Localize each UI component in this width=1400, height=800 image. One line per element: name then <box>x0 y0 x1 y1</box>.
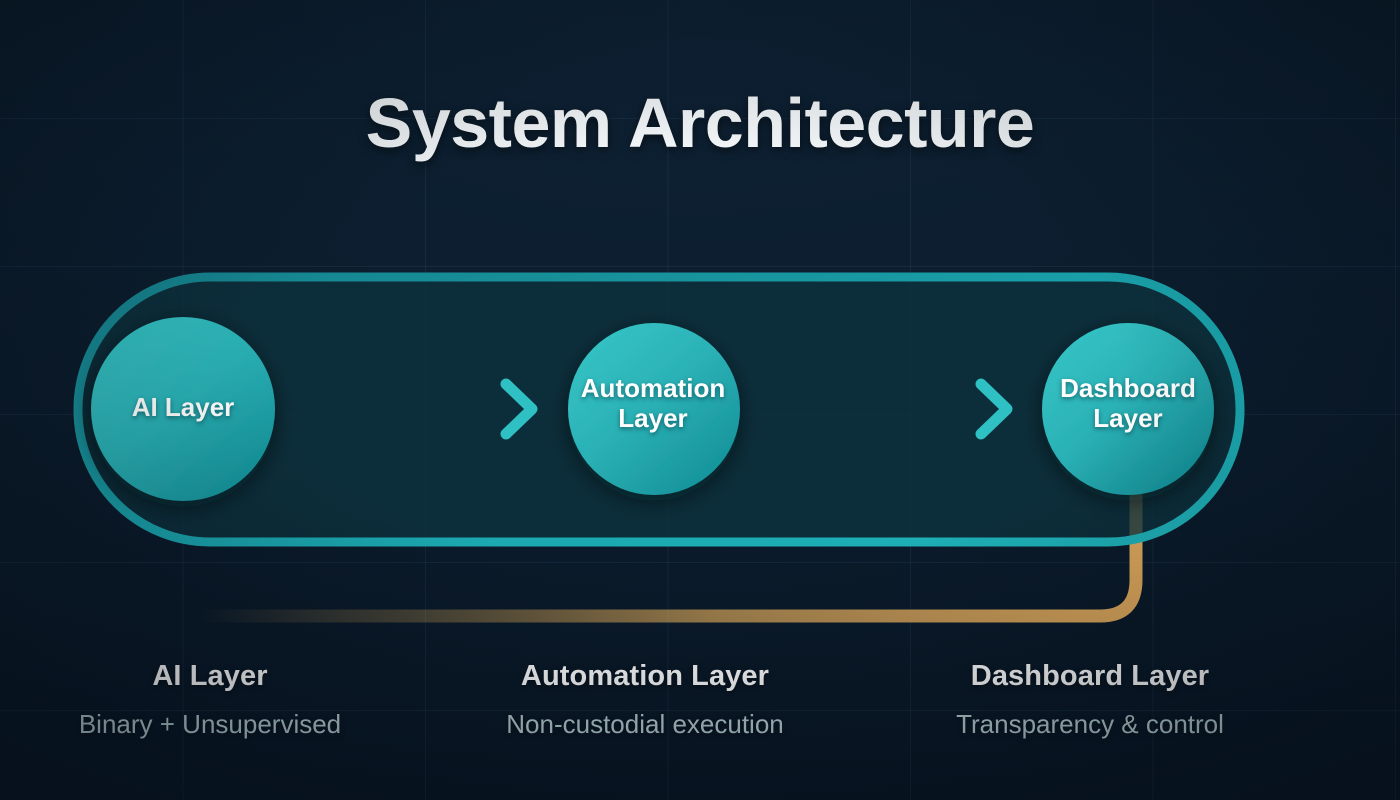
caption-dashboard-layer: Dashboard Layer Transparency & control <box>880 660 1300 740</box>
diagram-canvas: System Architecture <box>0 0 1400 800</box>
caption-title: Dashboard Layer <box>880 660 1300 693</box>
caption-ai-layer: AI Layer Binary + Unsupervised <box>0 660 420 740</box>
caption-subtitle: Transparency & control <box>880 709 1300 740</box>
node-circle-ai[interactable] <box>91 317 275 501</box>
caption-subtitle: Non-custodial execution <box>435 709 855 740</box>
caption-subtitle: Binary + Unsupervised <box>0 709 420 740</box>
node-circle-automation[interactable] <box>568 323 740 495</box>
caption-automation-layer: Automation Layer Non-custodial execution <box>435 660 855 740</box>
node-circle-dashboard[interactable] <box>1042 323 1214 495</box>
caption-title: AI Layer <box>0 660 420 693</box>
caption-title: Automation Layer <box>435 660 855 693</box>
